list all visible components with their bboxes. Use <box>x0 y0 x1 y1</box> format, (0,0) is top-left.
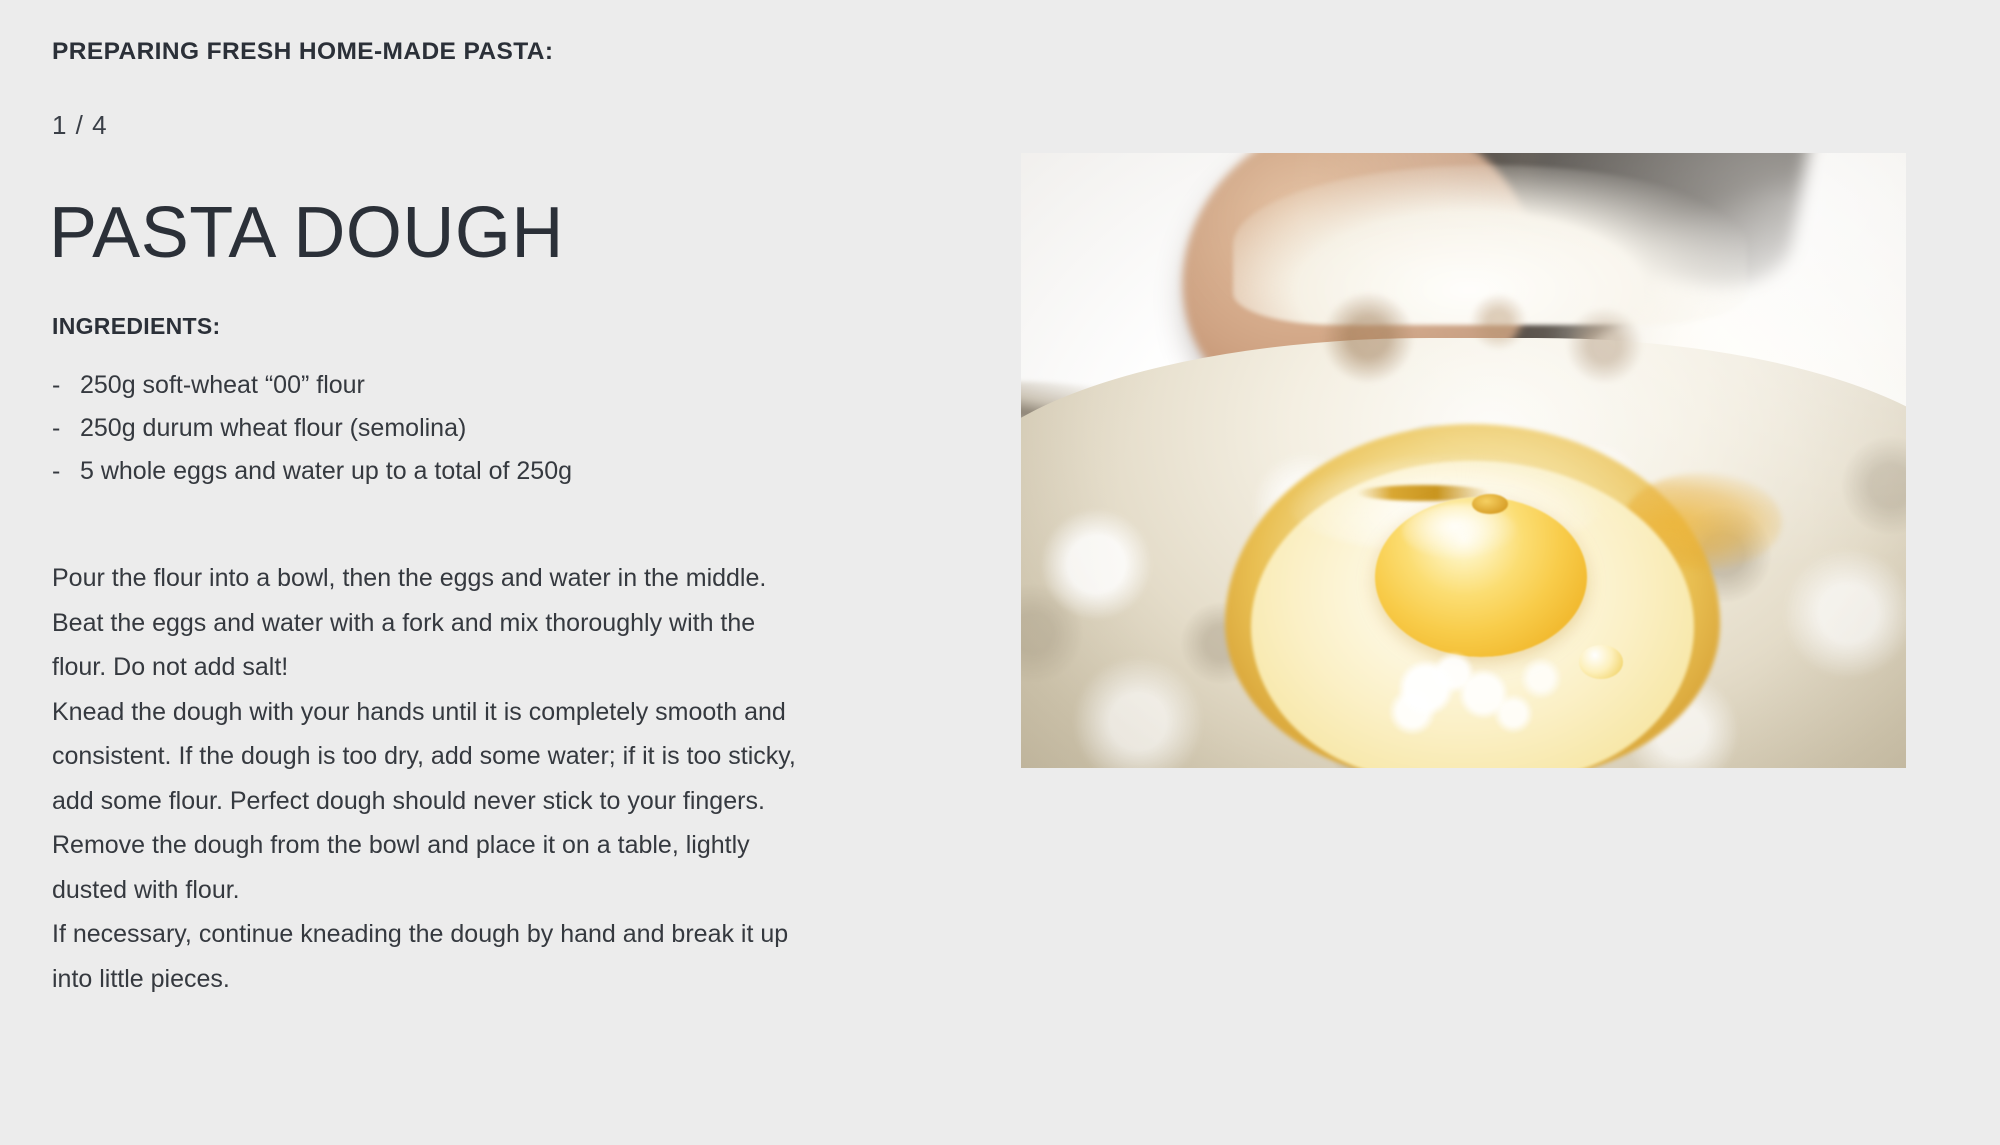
recipe-slide: PREPARING FRESH HOME-MADE PASTA: 1 / 4 P… <box>0 0 2000 1145</box>
photo-inner <box>1021 153 1906 768</box>
instruction-paragraph: Remove the dough from the bowl and place… <box>52 823 962 912</box>
photo-egg-bubbles <box>1357 645 1587 743</box>
list-item: -250g soft-wheat “00” flour <box>52 364 572 407</box>
instructions-body: Pour the flour into a bowl, then the egg… <box>52 556 962 1001</box>
photo-large-bubble <box>1579 645 1623 679</box>
photo-yolk-dot <box>1472 494 1507 514</box>
ingredient-text: 250g durum wheat flour (semolina) <box>80 414 466 442</box>
section-eyebrow: PREPARING FRESH HOME-MADE PASTA: <box>52 38 553 66</box>
list-marker: - <box>52 407 80 450</box>
photo-flour-specks <box>1287 288 1694 386</box>
list-marker: - <box>52 364 80 407</box>
page-indicator: 1 / 4 <box>52 110 108 141</box>
list-item: -5 whole eggs and water up to a total of… <box>52 450 572 493</box>
instruction-paragraph: Pour the flour into a bowl, then the egg… <box>52 556 962 690</box>
page-title: PASTA DOUGH <box>49 196 564 270</box>
list-marker: - <box>52 450 80 493</box>
ingredient-text: 250g soft-wheat “00” flour <box>80 371 365 399</box>
instruction-paragraph: Knead the dough with your hands until it… <box>52 690 962 824</box>
list-item: -250g durum wheat flour (semolina) <box>52 407 572 450</box>
ingredients-list: -250g soft-wheat “00” flour -250g durum … <box>52 364 572 493</box>
ingredients-heading: INGREDIENTS: <box>52 313 220 340</box>
egg-in-flour-well-photo <box>1021 153 1906 768</box>
instruction-paragraph: If necessary, continue kneading the doug… <box>52 912 962 1001</box>
ingredient-text: 5 whole eggs and water up to a total of … <box>80 457 572 485</box>
